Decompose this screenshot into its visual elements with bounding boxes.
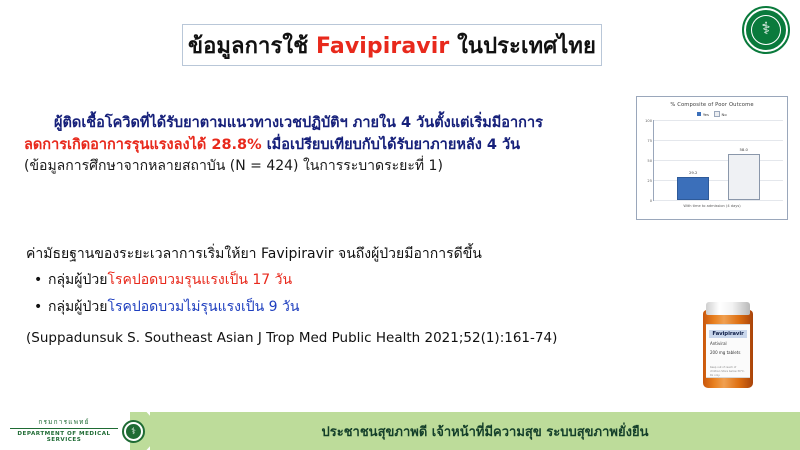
chart-bars: 29.2 58.0 [654,120,783,200]
bullet-lead-severe: กลุ่มผู้ป่วย [48,272,107,288]
legend-swatch-no [714,111,720,117]
finding-block-early-treatment: ผู้ติดเชื้อโควิดที่ได้รับยาตามแนวทางเวชป… [24,112,624,177]
bottle-label: Favipiravir Antiviral 200 mg tablets Kee… [706,324,750,378]
finding-line-2: ลดการเกิดอาการรุนแรงลงได้ 28.8% เมื่อเปร… [24,134,624,156]
bar-no [728,154,760,200]
title-drug-name: Favipiravir [316,34,449,59]
bullet-text-severe: กลุ่มผู้ป่วยโรคปอดบวมรุนแรงเป็น 17 วัน [48,269,292,291]
y-axis-tick: 0 [650,199,652,203]
y-axis-tick: 50 [647,159,652,163]
poor-outcome-bar-chart: % Composite of Poor Outcome Yes No 100 7… [636,96,788,220]
finding-source-note: (ข้อมูลการศึกษาจากหลายสถาบัน (N = 424) ใ… [24,156,624,177]
caduceus-icon: ⚕ [126,424,141,439]
slide-footer: กรมการแพทย์ DEPARTMENT OF MEDICAL SERVIC… [0,412,800,450]
bottle-cap [706,302,750,315]
bar-group-yes: 29.2 [677,120,709,200]
chart-legend: Yes No [637,111,787,117]
favipiravir-bottle-image: Favipiravir Antiviral 200 mg tablets Kee… [697,298,759,390]
legend-entry-no: No [714,111,727,117]
bottle-dosage: 200 mg tablets [710,350,746,356]
list-item: • กลุ่มผู้ป่วยโรคปอดบวมรุนแรงเป็น 17 วัน [26,269,626,291]
bar-yes [677,177,709,200]
title-prefix: ข้อมูลการใช้ [188,34,316,59]
caduceus-icon: ⚕ [752,16,780,44]
page-title: ข้อมูลการใช้ Favipiravir ในประเทศไทย [182,24,602,66]
citation-text: (Suppadunsuk S. Southeast Asian J Trop M… [26,330,626,346]
dms-thai-name: กรมการแพทย์ [8,419,120,426]
legend-label-yes: Yes [703,112,709,117]
chart-title: % Composite of Poor Outcome [637,102,787,108]
bullet-icon: • [34,296,48,318]
bottle-fine-print: Keep out of reach of children Store belo… [710,366,746,378]
dms-english-name: DEPARTMENT OF MEDICAL SERVICES [8,431,120,443]
ministry-of-public-health-logo: ⚕ [740,4,792,56]
y-axis-tick: 100 [645,119,652,123]
bullet-emphasis-nonsevere: โรคปอดบวมไม่รุนแรงเป็น 9 วัน [107,299,299,315]
finding-comparison-text: เมื่อเปรียบเทียบกับได้รับยาภายหลัง 4 วัน [262,137,520,153]
legend-entry-yes: Yes [697,112,709,117]
divider [10,428,118,429]
bottle-drug-name: Favipiravir [709,330,747,338]
bar-group-no: 58.0 [728,120,760,200]
x-axis-label: With time to admission (4 days) [637,204,787,208]
dms-emblem: ⚕ [122,420,145,443]
legend-swatch-yes [697,112,701,116]
title-suffix: ในประเทศไทย [449,34,596,59]
bullet-lead-nonsevere: กลุ่มผู้ป่วย [48,299,107,315]
y-axis-tick: 25 [647,179,652,183]
y-axis-tick: 75 [647,139,652,143]
bar-value-label-yes: 29.2 [689,170,697,175]
bar-value-label-no: 58.0 [740,147,748,152]
gridline: 0 [654,200,783,201]
bullet-emphasis-severe: โรคปอดบวมรุนแรงเป็น 17 วัน [107,272,292,288]
median-time-block: ค่ามัธยฐานของระยะเวลาการเริ่มให้ยา Favip… [26,243,626,346]
median-time-heading: ค่ามัธยฐานของระยะเวลาการเริ่มให้ยา Favip… [26,243,626,265]
page-title-text: ข้อมูลการใช้ Favipiravir ในประเทศไทย [188,28,596,63]
bullet-icon: • [34,269,48,291]
slide-canvas: ⚕ ข้อมูลการใช้ Favipiravir ในประเทศไทย ผ… [0,0,800,450]
legend-label-no: No [721,112,726,117]
finding-line-1: ผู้ติดเชื้อโควิดที่ได้รับยาตามแนวทางเวชป… [24,112,624,134]
list-item: • กลุ่มผู้ป่วยโรคปอดบวมไม่รุนแรงเป็น 9 ว… [26,296,626,318]
bullet-text-nonsevere: กลุ่มผู้ป่วยโรคปอดบวมไม่รุนแรงเป็น 9 วัน [48,296,299,318]
footer-slogan: ประชาชนสุขภาพดี เจ้าหน้าที่มีความสุข ระบ… [180,412,790,450]
bottle-drug-class: Antiviral [710,341,746,347]
finding-reduction-value: ลดการเกิดอาการรุนแรงลงได้ 28.8% [24,137,262,153]
department-of-medical-services-logo: กรมการแพทย์ DEPARTMENT OF MEDICAL SERVIC… [8,419,120,443]
chart-plot-area: 100 75 50 25 0 29.2 58.0 [653,120,783,201]
